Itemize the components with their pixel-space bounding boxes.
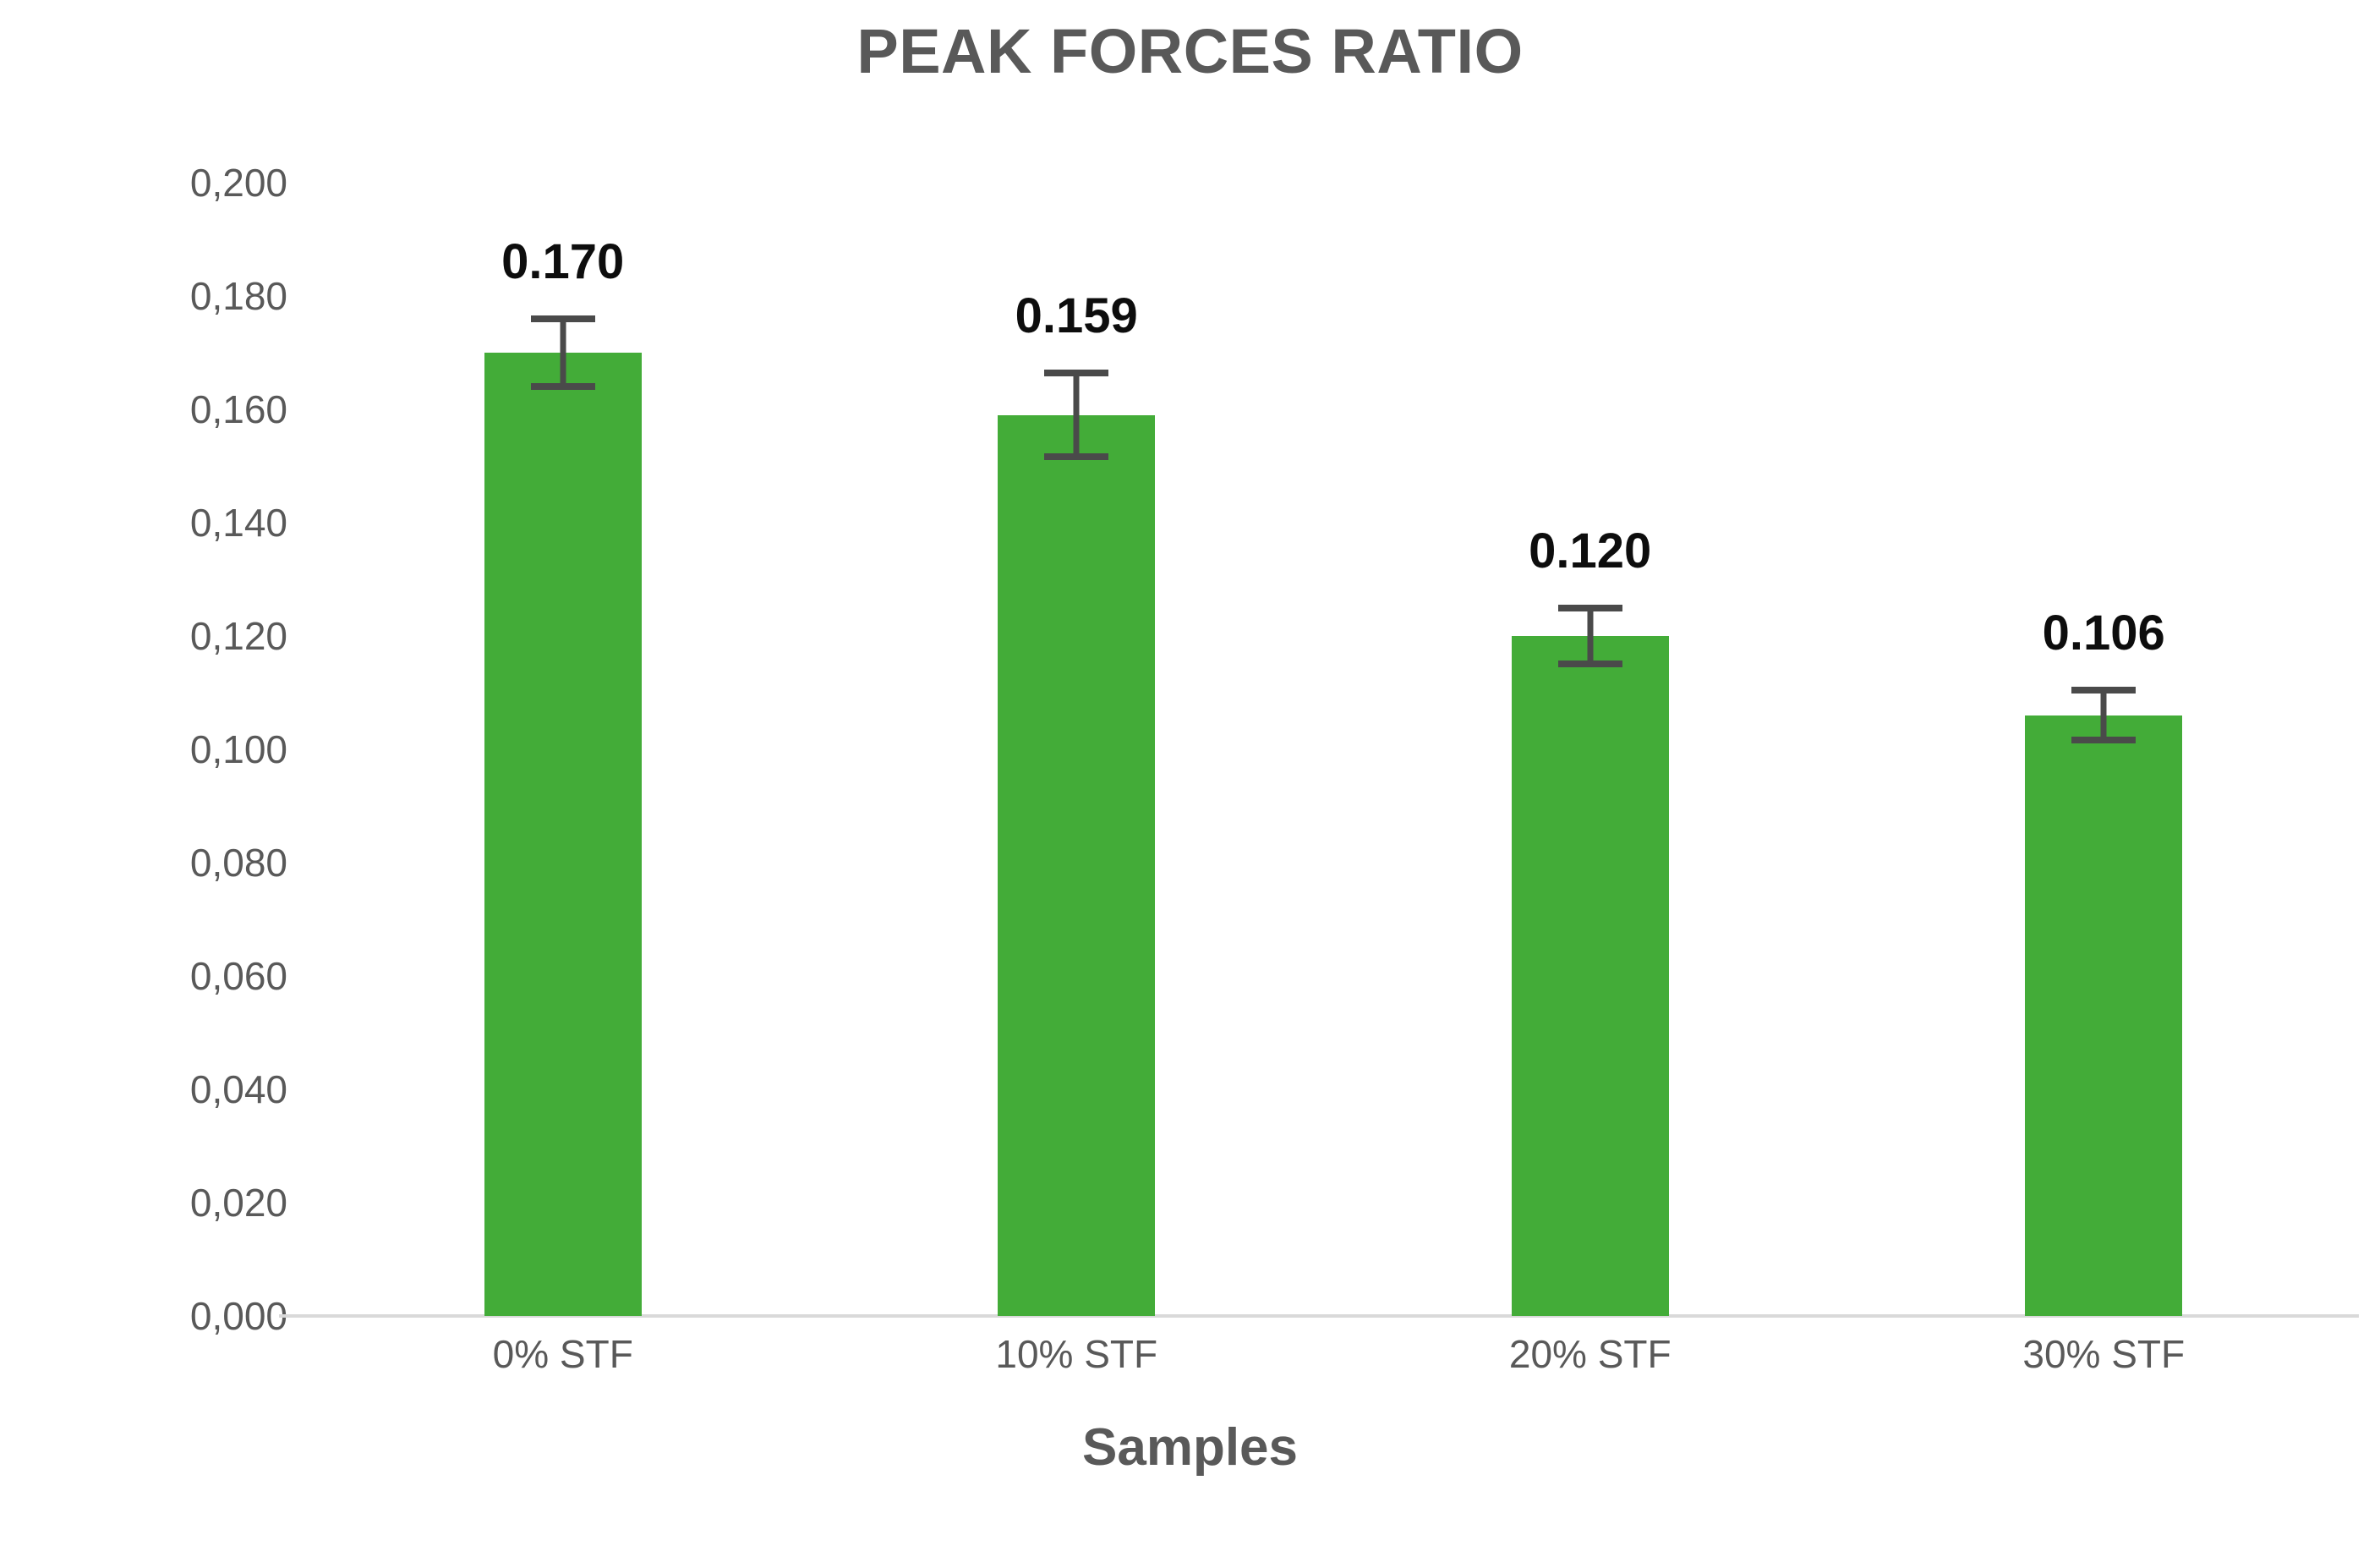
y-axis-tick-label: 0,120 xyxy=(110,613,287,659)
y-axis-tick-label: 0,000 xyxy=(110,1293,287,1339)
bar-value-label: 0.106 xyxy=(2043,605,2165,661)
bar[interactable] xyxy=(484,353,642,1316)
bar-group: 0.170 xyxy=(306,183,820,1316)
bar-group: 0.120 xyxy=(1333,183,1847,1316)
bar-group: 0.159 xyxy=(820,183,1334,1316)
error-bar-cap-lower xyxy=(1044,453,1108,460)
error-bar xyxy=(2071,687,2136,743)
x-axis-tick-label: 20% STF xyxy=(1421,1331,1759,1377)
y-axis-tick-labels: 0,2000,1800,1600,1400,1200,1000,0800,060… xyxy=(110,183,287,1316)
plot-area: 0.1700.1590.1200.106 xyxy=(306,183,2361,1316)
error-bar-cap-lower xyxy=(2071,737,2136,743)
bar-group: 0.106 xyxy=(1847,183,2361,1316)
error-bar-line xyxy=(1074,370,1080,460)
bar-value-label: 0.159 xyxy=(1015,288,1138,344)
bar[interactable] xyxy=(2025,715,2182,1316)
bar-value-label: 0.120 xyxy=(1529,523,1651,579)
error-bar-cap-upper xyxy=(531,315,595,322)
y-axis-tick-label: 0,100 xyxy=(110,726,287,772)
x-axis-tick-label: 30% STF xyxy=(1934,1331,2273,1377)
error-bar xyxy=(1558,605,1622,667)
error-bar xyxy=(531,315,595,389)
y-axis-tick-label: 0,180 xyxy=(110,273,287,319)
y-axis-tick-label: 0,200 xyxy=(110,160,287,206)
error-bar-cap-upper xyxy=(2071,687,2136,694)
chart-title: PEAK FORCES RATIO xyxy=(0,15,2380,87)
y-axis-tick-label: 0,080 xyxy=(110,840,287,885)
bar[interactable] xyxy=(1512,636,1669,1316)
y-axis-tick-label: 0,160 xyxy=(110,387,287,432)
y-axis-tick-label: 0,020 xyxy=(110,1180,287,1225)
x-axis-tick-label: 10% STF xyxy=(907,1331,1245,1377)
error-bar-line xyxy=(1587,605,1593,667)
bar-value-label: 0.170 xyxy=(501,233,624,290)
error-bar-line xyxy=(2101,687,2107,743)
y-axis-tick-label: 0,140 xyxy=(110,500,287,545)
y-axis-tick-label: 0,060 xyxy=(110,953,287,999)
bar[interactable] xyxy=(998,415,1155,1316)
y-axis-tick-label: 0,040 xyxy=(110,1066,287,1112)
error-bar-cap-lower xyxy=(1558,661,1622,667)
x-axis-tick-label: 0% STF xyxy=(394,1331,732,1377)
error-bar xyxy=(1044,370,1108,460)
error-bar-cap-upper xyxy=(1044,370,1108,376)
error-bar-cap-lower xyxy=(531,383,595,390)
error-bar-line xyxy=(560,315,566,389)
x-axis-title: Samples xyxy=(0,1417,2380,1478)
error-bar-cap-upper xyxy=(1558,605,1622,611)
chart-canvas: PEAK FORCES RATIO Peak Force 2 / Peak Fo… xyxy=(0,0,2380,1557)
